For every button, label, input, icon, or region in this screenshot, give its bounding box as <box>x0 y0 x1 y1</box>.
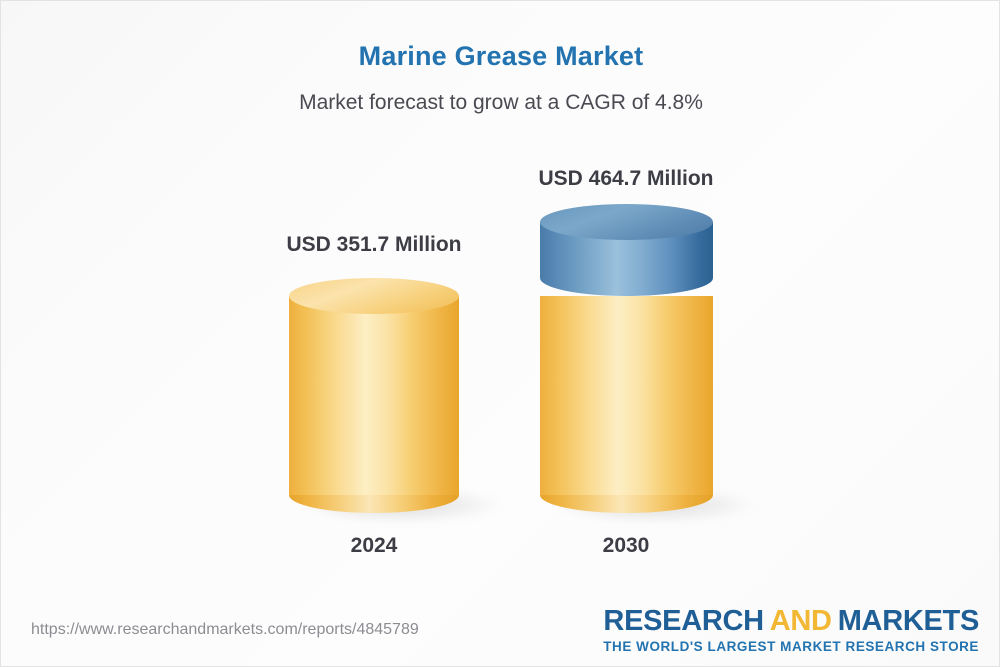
logo-word-markets: MARKETS <box>838 605 979 637</box>
chart-canvas: Marine Grease Market Market forecast to … <box>0 0 1000 667</box>
year-label-2030: 2030 <box>526 534 726 558</box>
cylinder-top-ellipse-2024 <box>289 278 459 314</box>
cylinder-bar-2030 <box>540 204 713 531</box>
research-and-markets-logo[interactable]: RESEARCHANDMARKETS THE WORLD'S LARGEST M… <box>603 604 979 655</box>
value-label-2030: USD 464.7 Million <box>526 167 726 191</box>
chart-plot-area: USD 351.7 Million 2024 USD 464.7 Million… <box>1 1 1000 601</box>
chart-footer: https://www.researchandmarkets.com/repor… <box>1 600 1000 666</box>
year-label-2024: 2024 <box>274 534 474 558</box>
logo-word-research: RESEARCH <box>603 605 763 637</box>
cylinder-bar-2024 <box>289 278 459 531</box>
cylinder-body-base-2030 <box>540 296 713 495</box>
value-label-2024: USD 351.7 Million <box>274 233 474 257</box>
cylinder-top-ellipse-2030 <box>540 204 713 240</box>
cylinder-body-2024 <box>289 296 459 495</box>
logo-tagline: THE WORLD'S LARGEST MARKET RESEARCH STOR… <box>603 638 979 655</box>
report-url[interactable]: https://www.researchandmarkets.com/repor… <box>31 621 419 639</box>
logo-wordmark: RESEARCHANDMARKETS <box>603 604 979 638</box>
logo-word-and: AND <box>770 605 832 637</box>
